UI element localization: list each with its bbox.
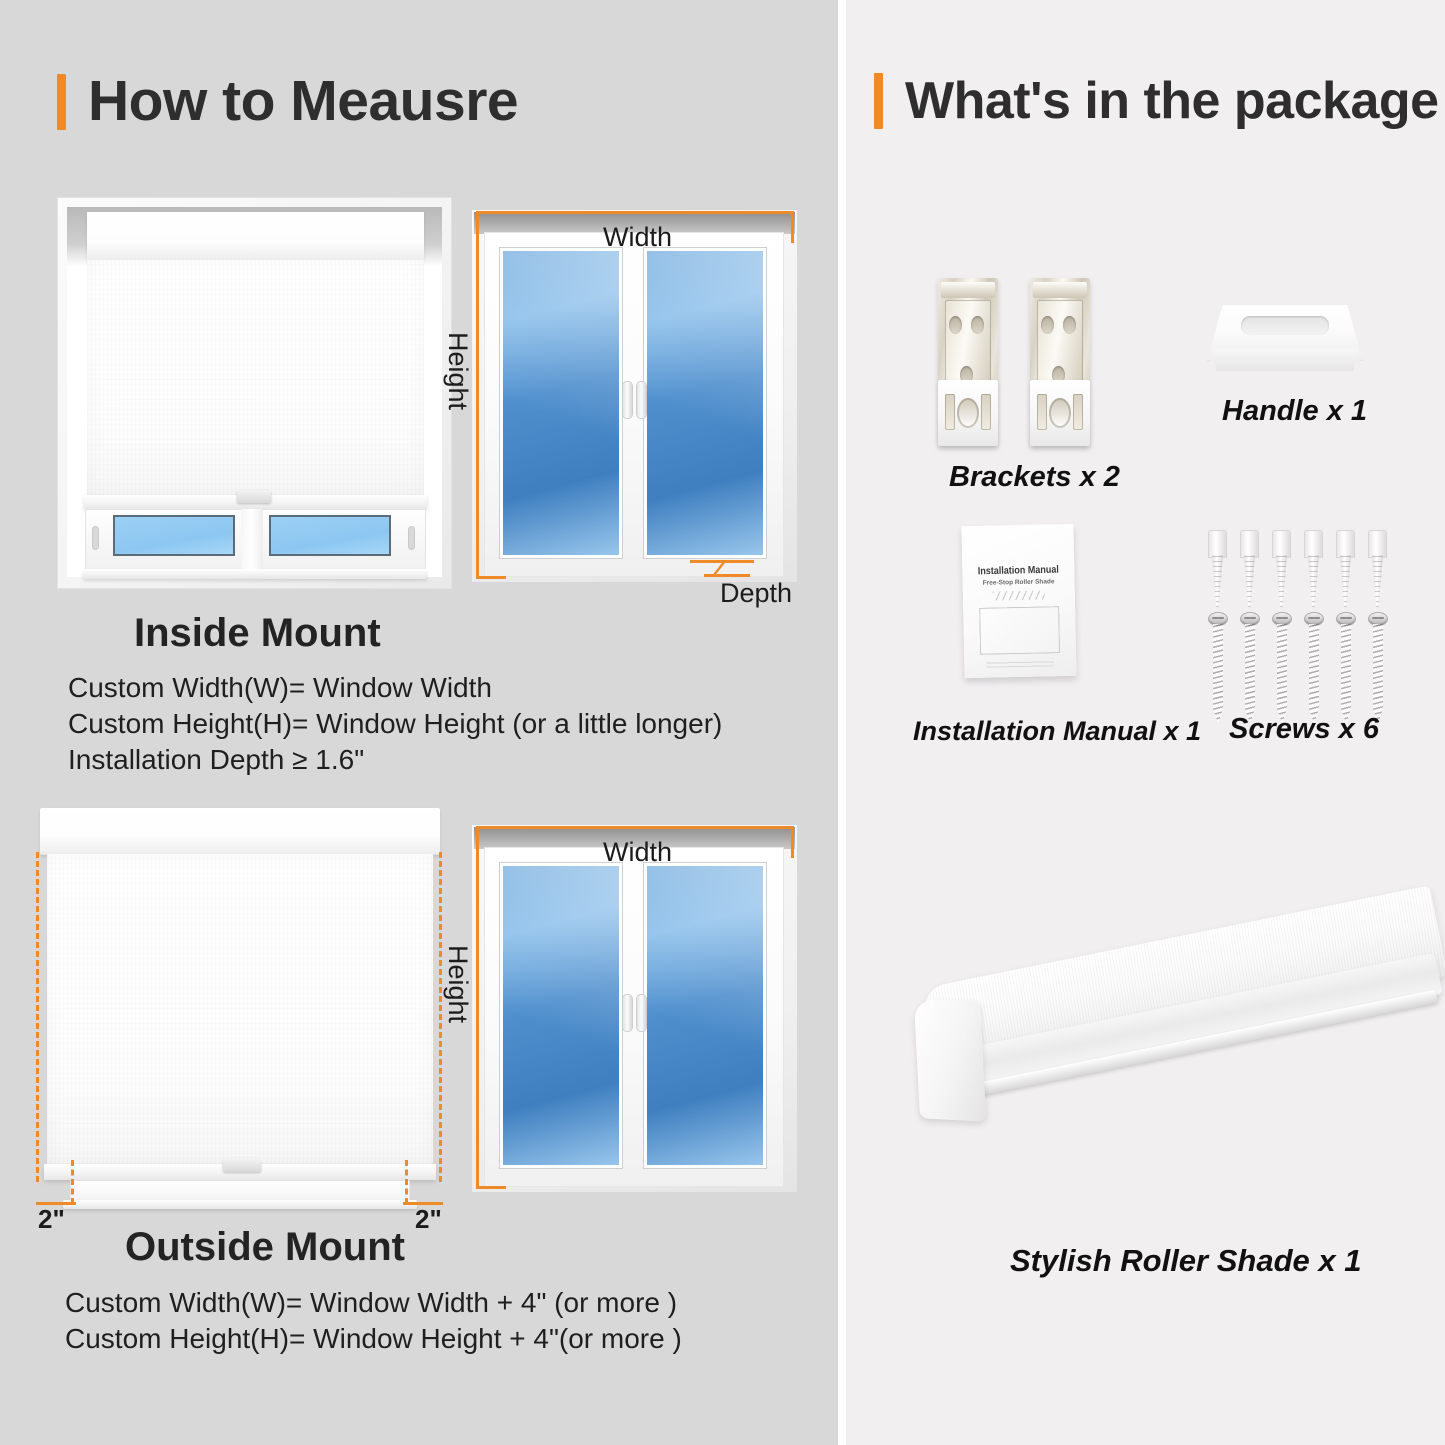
screw-2 [1241,613,1259,723]
wall-anchor-1 [1208,531,1227,607]
manual-cover-footer [986,658,1054,667]
measure-window-handle-right-icon-2 [637,995,646,1031]
shade-valance [87,212,424,261]
inside-mount-shade-illustration [57,197,452,589]
left-panel-heading: How to Meausre [57,73,518,130]
accent-bar-icon-2 [874,73,883,129]
overhang-inner-guide-left [71,1160,74,1204]
inside-mount-caption: Inside Mount [134,611,381,656]
inside-mount-line-1: Custom Width(W)= Window Width [68,670,492,706]
outside-mount-line-2: Custom Height(H)= Window Height + 4"(or … [65,1321,682,1357]
shade-pull-tab [237,490,271,503]
wall-anchor-6 [1368,531,1387,607]
wall-anchor-2 [1240,531,1259,607]
wall-anchor-3 [1272,531,1291,607]
depth-label: Depth [720,578,792,609]
pane-gloss-left [500,248,622,558]
window-mullion [241,509,263,571]
overhang-right-label: 2" [415,1204,442,1235]
roller-shade-product [885,880,1445,1210]
overhang-inner-guide-right [405,1160,408,1204]
manual-cover-diagram [979,606,1060,655]
window-glass-right [269,515,391,556]
height-label-2: Height [442,945,473,1023]
height-measure-tick-bottom [476,576,506,579]
inside-mount-line-2: Custom Height(H)= Window Height (or a li… [68,706,722,742]
overhang-guide-left [36,852,39,1182]
right-panel-heading: What's in the package [874,73,1439,129]
manual-cover-subtitle: Free-Stop Roller Shade [963,578,1075,587]
outside-shade-valance [40,808,440,855]
inside-mount-line-3: Installation Depth ≥ 1.6" [68,742,364,778]
height-measure-line-2 [476,826,479,1189]
roller-shade-label: Stylish Roller Shade x 1 [1010,1243,1361,1279]
brackets-label: Brackets x 2 [949,461,1120,494]
height-measure-line [476,211,479,579]
handle-label: Handle x 1 [1222,395,1367,428]
wall-anchor-4 [1304,531,1323,607]
handle-part [1207,305,1363,373]
sash-handle-right-icon [409,527,414,549]
screw-4 [1305,613,1323,723]
pane-gloss-right-2 [644,863,766,1168]
accent-bar-icon [57,74,66,130]
width-measure-line [476,211,794,214]
measure-window-pane-left-2 [500,863,622,1168]
screw-5 [1337,613,1355,723]
height-label: Height [442,332,473,410]
measure-window-handle-right-icon [637,382,646,418]
screw-1 [1209,613,1227,723]
screw-6 [1369,613,1387,723]
screw-3 [1273,613,1291,723]
measure-window-handle-left-icon-2 [623,995,632,1031]
measure-window-pane-right [644,248,766,558]
manual-cover-title: Installation Manual [962,563,1074,577]
sash-handle-left-icon [93,527,98,549]
outside-mount-line-1: Custom Width(W)= Window Width + 4" (or m… [65,1285,677,1321]
width-label: Width [603,222,672,253]
inside-mount-measure-diagram: Width Height Depth [462,200,807,600]
measure-window-pane-left [500,248,622,558]
overhang-left-label: 2" [38,1204,65,1235]
width-label-2: Width [603,837,672,868]
bracket-part-2 [1030,278,1090,446]
bracket-part-1 [938,278,998,446]
height-measure-tick-bottom-2 [476,1186,506,1189]
window-sill [83,569,427,579]
pane-gloss-left-2 [500,863,622,1168]
measure-window-handle-left-icon [623,382,632,418]
window-glass-left [113,515,235,556]
panel-divider [838,0,846,1445]
left-panel-title: How to Meausre [88,73,518,130]
depth-measure-marker [690,552,760,578]
infographic-poster: How to Meausre Width [0,0,1445,1445]
manual-cover-scribble [993,590,1045,600]
outside-mount-shade-illustration [35,808,445,1208]
width-measure-tick-right-2 [791,826,794,858]
shade-fabric [87,260,424,495]
installation-manual-part: Installation Manual Free-Stop Roller Sha… [961,524,1076,678]
installation-manual-label: Installation Manual x 1 [913,716,1201,747]
screws-label: Screws x 6 [1229,713,1379,746]
roller-shade-end-cap [914,998,987,1121]
pane-gloss-right [644,248,766,558]
outside-mount-caption: Outside Mount [125,1225,405,1270]
right-panel-title: What's in the package [905,75,1439,127]
width-measure-tick-right [791,211,794,243]
outside-mount-measure-diagram: Width Height [462,815,807,1210]
width-measure-line-2 [476,826,794,829]
outside-shade-fabric [47,854,433,1164]
outside-window-sill [63,1200,417,1209]
outside-shade-pull-tab [223,1158,261,1172]
measure-window-pane-right-2 [644,863,766,1168]
wall-anchor-5 [1336,531,1355,607]
